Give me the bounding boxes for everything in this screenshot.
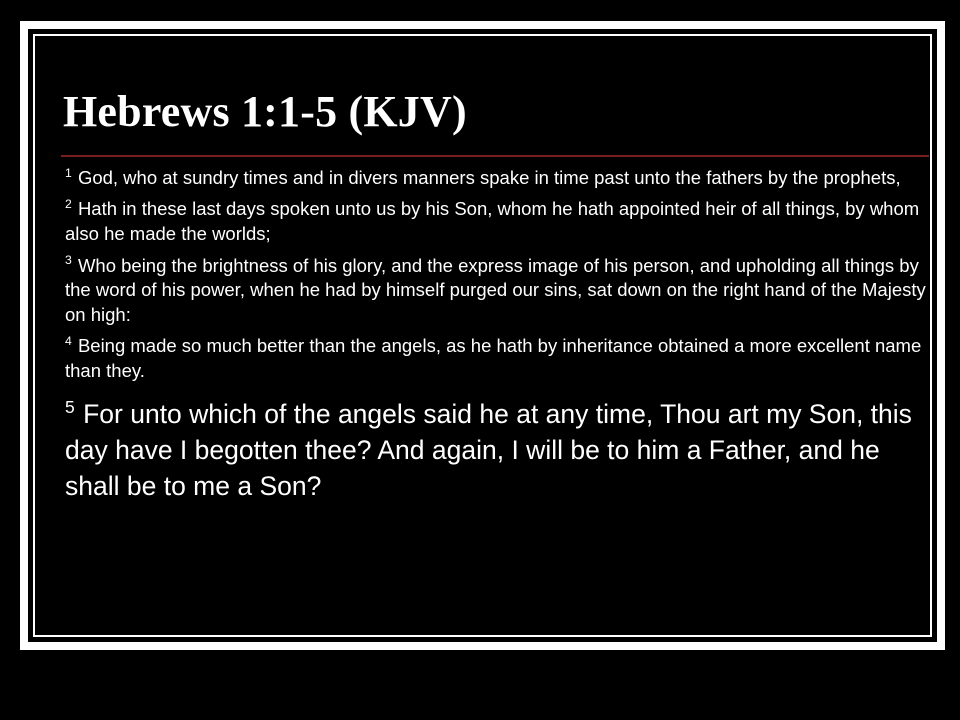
verse-text: Hath in these last days spoken unto us b… (65, 198, 919, 244)
verse-paragraph: 2 Hath in these last days spoken unto us… (65, 197, 933, 246)
slide-content: Hebrews 1:1-5 (KJV) 1 God, who at sundry… (61, 89, 933, 504)
presentation-slide: Hebrews 1:1-5 (KJV) 1 God, who at sundry… (0, 0, 960, 720)
scripture-verse-list: 1 God, who at sundry times and in divers… (61, 166, 933, 504)
verse-paragraph: 3 Who being the brightness of his glory,… (65, 254, 933, 328)
title-divider (61, 155, 929, 157)
verse-text: Who being the brightness of his glory, a… (65, 255, 926, 325)
verse-paragraph: 5 For unto which of the angels said he a… (65, 396, 933, 504)
verse-number: 1 (65, 166, 73, 180)
verse-paragraph: 1 God, who at sundry times and in divers… (65, 166, 933, 191)
verse-number: 5 (65, 397, 76, 417)
slide-outer-border: Hebrews 1:1-5 (KJV) 1 God, who at sundry… (20, 21, 945, 650)
verse-text: For unto which of the angels said he at … (65, 399, 912, 501)
verse-paragraph: 4 Being made so much better than the ang… (65, 334, 933, 383)
verse-number: 3 (65, 253, 73, 267)
verse-text: God, who at sundry times and in divers m… (78, 167, 901, 188)
page-title: Hebrews 1:1-5 (KJV) (63, 89, 933, 135)
verse-number: 4 (65, 334, 73, 348)
verse-number: 2 (65, 197, 73, 211)
verse-text: Being made so much better than the angel… (65, 335, 921, 381)
